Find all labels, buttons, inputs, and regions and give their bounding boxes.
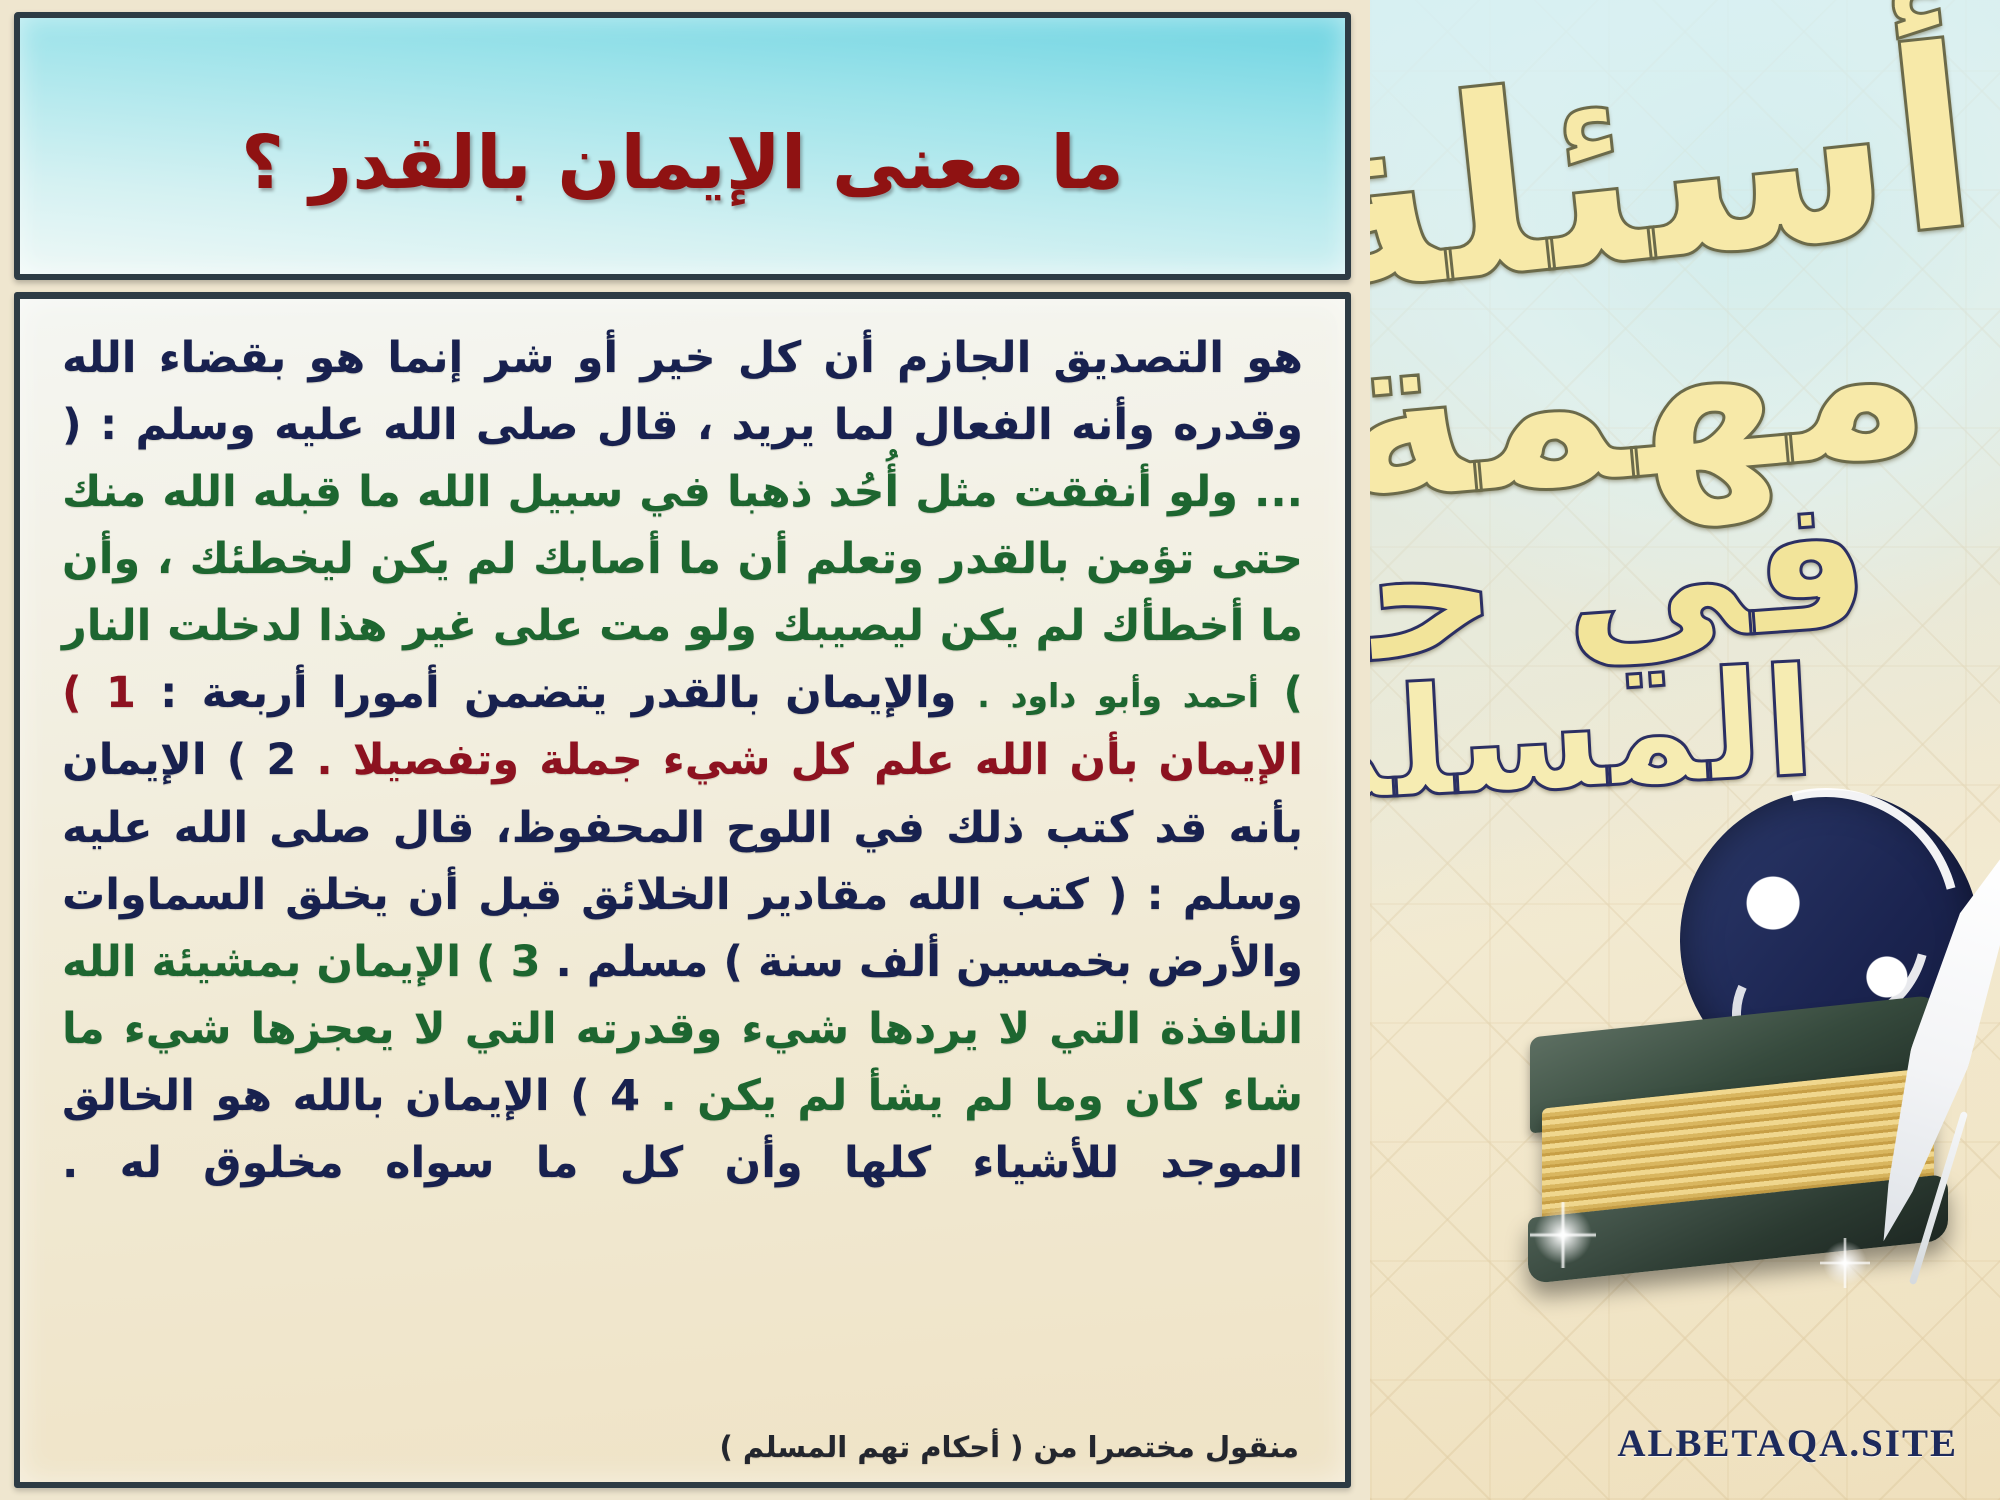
- book-and-quill-illustration: [1520, 770, 1990, 1290]
- answer-segment: هو التصديق الجازم أن كل خير أو شر إنما ه…: [62, 333, 1303, 450]
- content-left-panel: ما معنى الإيمان بالقدر ؟ هو التصديق الجا…: [0, 0, 1370, 1500]
- answer-text: هو التصديق الجازم أن كل خير أو شر إنما ه…: [62, 325, 1303, 1197]
- question-title-box: ما معنى الإيمان بالقدر ؟: [14, 12, 1351, 280]
- page-title: ما معنى الإيمان بالقدر ؟: [241, 120, 1124, 206]
- site-name-label: ALBETAQA.SITE: [1617, 1421, 1958, 1466]
- book-graphic: [1520, 1010, 1960, 1290]
- sparkle-icon: [1820, 1238, 1870, 1288]
- source-attribution: منقول مختصرا من ( أحكام تهم المسلم ): [720, 1430, 1299, 1464]
- islamic-question-card: أسئلة مهمة في حياة المسلم ALBETAQA.SITE: [0, 0, 2000, 1500]
- answer-segment: والإيمان بالقدر يتضمن أمورا أربعة :: [136, 668, 957, 718]
- answer-segment: أحمد وأبو داود .: [956, 676, 1259, 715]
- sparkle-icon: [1530, 1202, 1596, 1268]
- answer-body-box: هو التصديق الجازم أن كل خير أو شر إنما ه…: [14, 292, 1351, 1488]
- decorative-right-panel: أسئلة مهمة في حياة المسلم ALBETAQA.SITE: [1370, 0, 2000, 1500]
